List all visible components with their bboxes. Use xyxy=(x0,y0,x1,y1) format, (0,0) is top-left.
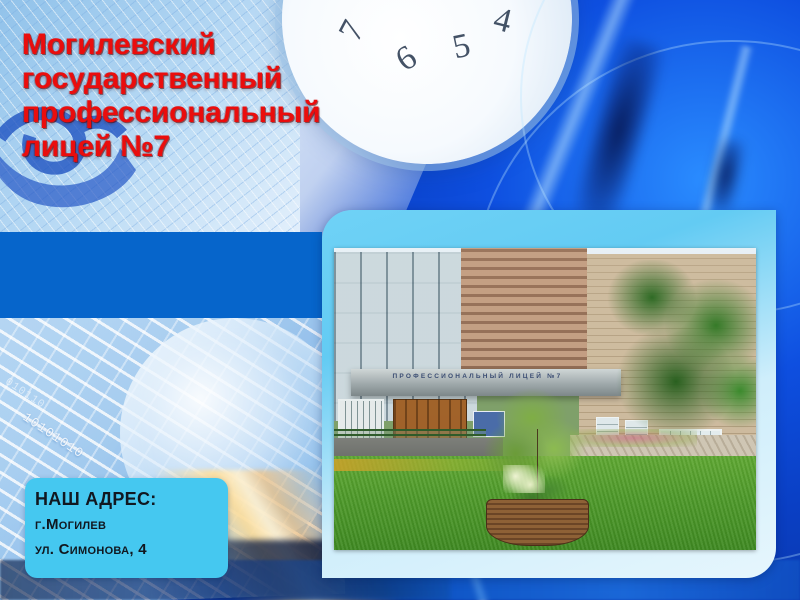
photo-white-blooms xyxy=(503,465,545,492)
address-street: ул. Симонова, 4 xyxy=(35,537,228,562)
photo-building-sign: ПРОФЕССИОНАЛЬНЫЙ ЛИЦЕЙ №7 xyxy=(359,373,595,380)
photo-building-brick-panel xyxy=(461,248,588,387)
photo-tree xyxy=(604,260,756,447)
building-photo: ПРОФЕССИОНАЛЬНЫЙ ЛИЦЕЙ №7 xyxy=(334,248,756,550)
blue-band xyxy=(0,232,322,318)
presentation-slide: 7 6 5 4 10101010 010110 Могилевский госу… xyxy=(0,0,800,600)
photo-wicker-basket xyxy=(486,499,589,546)
address-city: г.Могилев xyxy=(35,512,228,537)
photo-frame: ПРОФЕССИОНАЛЬНЫЙ ЛИЦЕЙ №7 xyxy=(322,210,776,578)
page-title: Могилевский государственный профессионал… xyxy=(22,28,452,164)
address-box: НАШ АДРЕС: г.Могилев ул. Симонова, 4 xyxy=(25,478,228,578)
address-heading: НАШ АДРЕС: xyxy=(35,486,228,512)
